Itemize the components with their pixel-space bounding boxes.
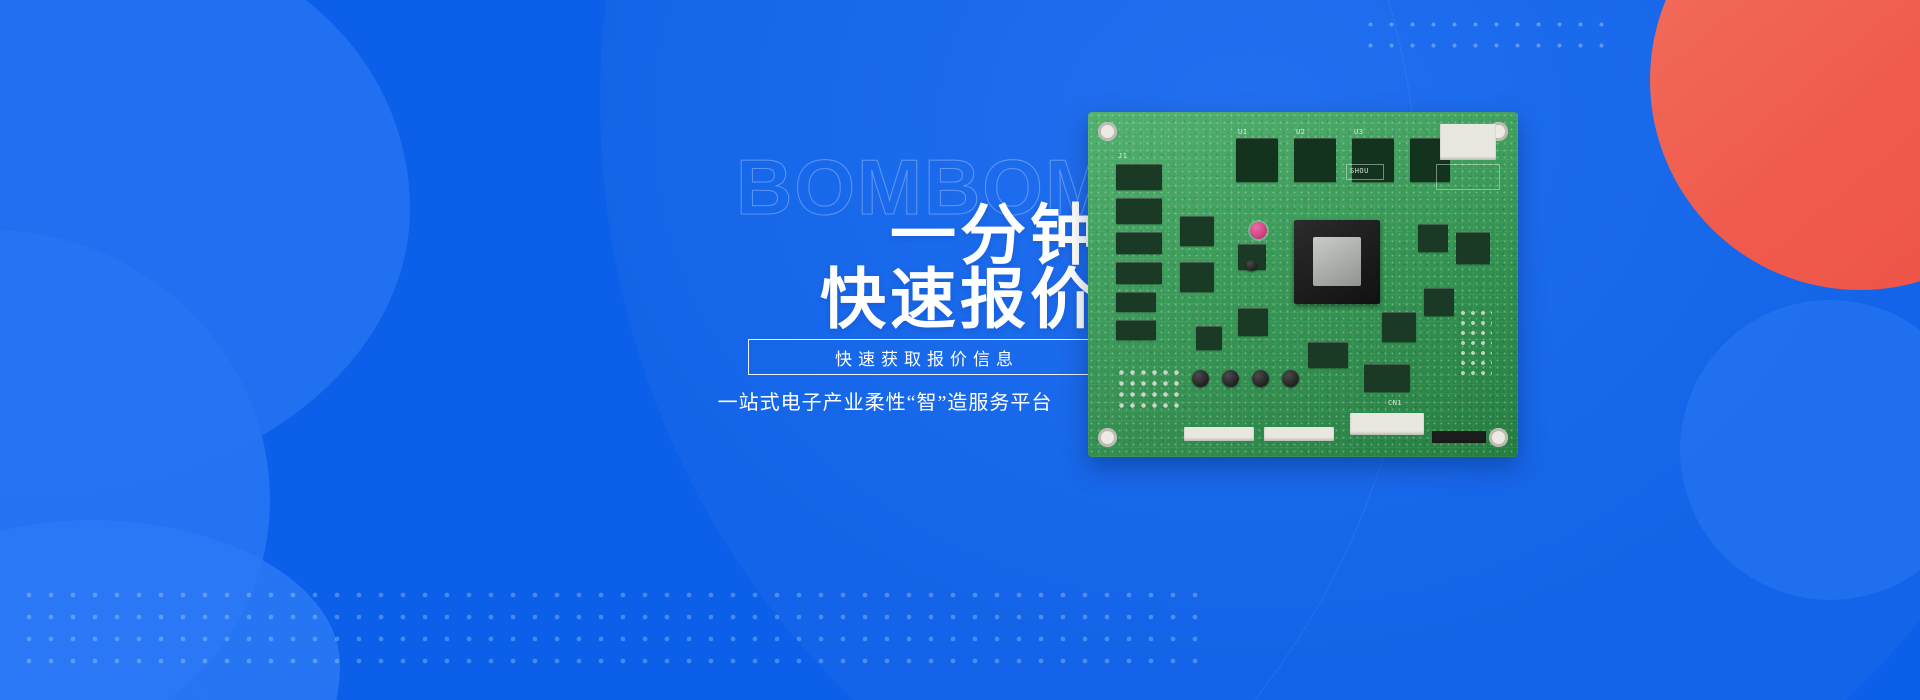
edge-connector-2 <box>1264 427 1334 441</box>
ic-chip-top-1 <box>1236 138 1278 182</box>
ic-chip-mid-10 <box>1308 342 1348 368</box>
mounting-hole-tl <box>1098 122 1117 141</box>
ic-chip-mid-8 <box>1424 288 1454 316</box>
solder-pad-field <box>1116 367 1182 413</box>
banner-subtitle: 一站式电子产业柔性“智”造服务平台 <box>670 386 1100 415</box>
cpu-heat-spreader <box>1313 237 1361 286</box>
pin-header-left-4 <box>1116 262 1162 284</box>
mounting-hole-br <box>1489 428 1508 447</box>
ic-chip-mid-7 <box>1456 232 1490 264</box>
promo-banner: BOMBOM 一分钟 快速报价 快速获取报价信息 一站式电子产业柔性“智”造服务… <box>0 0 1920 700</box>
pin-header-left-2 <box>1116 198 1162 224</box>
capacitor-1 <box>1192 370 1209 387</box>
ic-chip-mid-1 <box>1180 216 1214 246</box>
cpu-bga-package <box>1294 220 1380 304</box>
ic-chip-mid-6 <box>1418 224 1448 252</box>
silkscreen-label-j1: J1 <box>1118 152 1127 160</box>
ic-chip-mid-11 <box>1364 364 1410 392</box>
headline-line-1: 一分钟 <box>890 198 1100 272</box>
solder-pad-column-right <box>1458 308 1492 378</box>
pin-header-left-1 <box>1116 164 1162 190</box>
mounting-hole-bl <box>1098 428 1117 447</box>
ic-chip-mid-9 <box>1382 312 1416 342</box>
ic-chip-mid-4 <box>1238 308 1268 336</box>
pin-header-left-6 <box>1116 320 1156 340</box>
magenta-capacitor <box>1250 222 1267 239</box>
ic-chip-top-2 <box>1294 138 1336 182</box>
capacitor-4 <box>1282 370 1299 387</box>
ic-chip-mid-5 <box>1196 326 1222 350</box>
banner-copy: BOMBOM 一分钟 快速报价 快速获取报价信息 一站式电子产业柔性“智”造服务… <box>680 152 1100 422</box>
silkscreen-label-u2: U2 <box>1296 128 1305 136</box>
silkscreen-label-u1: U1 <box>1238 128 1247 136</box>
tagline-box: 快速获取报价信息 <box>748 339 1100 375</box>
card-slot-outline <box>1436 164 1500 190</box>
dot-grid-top-right <box>1360 14 1620 64</box>
product-image-pcb-motherboard: SHOU U1 U2 U3 J1 CN1 <box>1088 112 1518 457</box>
edge-connector-4 <box>1432 431 1486 443</box>
card-slot-connector <box>1440 124 1496 160</box>
edge-connector-3 <box>1350 413 1424 435</box>
pin-header-left-3 <box>1116 232 1162 254</box>
capacitor-2 <box>1222 370 1239 387</box>
tagline-box-label: 快速获取报价信息 <box>829 345 1019 370</box>
pcb-substrate: SHOU U1 U2 U3 J1 CN1 <box>1088 112 1518 457</box>
dot-grid-bottom-left <box>18 584 1198 672</box>
page-title: 一分钟 快速报价 <box>680 204 1100 330</box>
silkscreen-logo-label: SHOU <box>1350 167 1369 175</box>
capacitor-3 <box>1252 370 1269 387</box>
pin-header-left-5 <box>1116 292 1156 312</box>
ic-chip-mid-2 <box>1180 262 1214 292</box>
silkscreen-label-cn1: CN1 <box>1388 399 1402 407</box>
headline-line-2: 快速报价 <box>680 268 1100 330</box>
edge-connector-1 <box>1184 427 1254 441</box>
silkscreen-label-u3: U3 <box>1354 128 1363 136</box>
capacitor-5 <box>1246 260 1257 271</box>
